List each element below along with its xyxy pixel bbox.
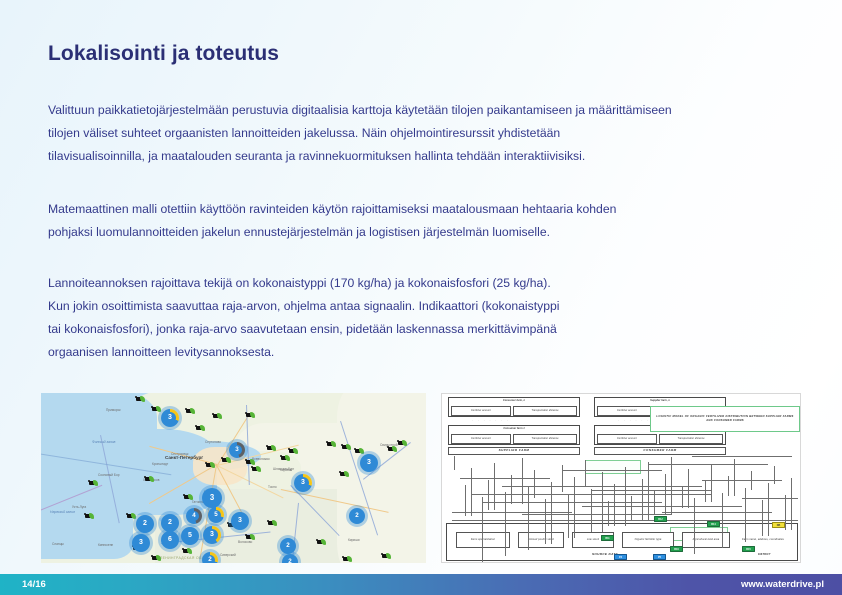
diagram-connector xyxy=(705,481,706,502)
leaf-icon xyxy=(256,466,261,472)
source-box-animal-poultry-stock: Animal/ poultry stock xyxy=(518,532,564,548)
leaf-icon xyxy=(149,476,154,482)
leaf-icon xyxy=(190,408,195,414)
map-water-label: Финский залив xyxy=(92,440,115,444)
map-cluster-marker[interactable]: 4 xyxy=(186,508,202,524)
source-box-agricultural-land-area: Agricultural land area xyxy=(682,532,730,548)
cluster-count-label: 3 xyxy=(164,412,176,424)
paragraph-3-line-1: Lannoiteannoksen rajoittava tekijä on ko… xyxy=(48,272,559,295)
map-cluster-marker[interactable]: 3 xyxy=(231,512,249,530)
diagram-connector xyxy=(562,470,662,471)
diagram-connector xyxy=(762,500,763,536)
cluster-count-label: 2 xyxy=(352,511,363,522)
farm-marker-icon[interactable] xyxy=(355,448,364,455)
diagram-connector xyxy=(785,495,786,530)
diagram-connector xyxy=(608,501,609,526)
farm-marker-icon[interactable] xyxy=(246,534,255,541)
farm-marker-icon[interactable] xyxy=(184,494,193,501)
supplier-farm-bar: SUPPLIER FARM xyxy=(448,447,580,455)
consumer-farm-1-table: Consumer farm 1 Fertilizer amount Transp… xyxy=(448,425,580,445)
group-frame-p4p5 xyxy=(585,460,641,474)
diagram-connector xyxy=(545,499,546,544)
fertilizer-amount-cell: Fertilizer amount xyxy=(451,434,511,444)
diagram-connector xyxy=(774,466,775,484)
diagram-connector xyxy=(751,471,752,490)
leaf-icon xyxy=(347,556,352,562)
paragraph-3-line-4: orgaanisen lannoitteen levitysannoksesta… xyxy=(48,341,559,364)
map-place-label: Приморск xyxy=(106,408,121,412)
farm-marker-icon[interactable] xyxy=(382,553,391,560)
diagram-node[interactable]: B14 xyxy=(707,521,720,527)
diagram-connector xyxy=(692,456,792,457)
leaf-icon xyxy=(250,412,255,418)
diagram-connector xyxy=(574,477,575,538)
farm-marker-icon[interactable] xyxy=(252,466,261,473)
farm-marker-icon[interactable] xyxy=(152,555,161,562)
map-cluster-marker[interactable]: 2 xyxy=(349,508,365,524)
diagram-canvas[interactable]: Consumer farm, n Fertilizer amount Trans… xyxy=(442,394,800,562)
map-figure[interactable]: Санкт-ПетербургПриморскСертоловоСестроре… xyxy=(41,393,426,563)
fertilizer-amount-cell: Fertilizer amount xyxy=(451,406,511,416)
leaf-icon xyxy=(272,520,277,526)
cluster-count-label: 2 xyxy=(285,557,296,563)
website-link[interactable]: www.waterdrive.pl xyxy=(741,579,824,590)
leaf-icon xyxy=(93,480,98,486)
diagram-connector xyxy=(582,506,742,507)
farm-marker-icon[interactable] xyxy=(342,444,351,451)
farm-marker-icon[interactable] xyxy=(267,445,276,452)
diagram-connector xyxy=(625,467,626,526)
diagram-connector xyxy=(654,491,655,514)
farm-marker-icon[interactable] xyxy=(186,408,195,415)
cluster-count-label: 3 xyxy=(297,477,309,489)
diagram-connector xyxy=(614,484,615,526)
farm-marker-icon[interactable] xyxy=(246,412,255,419)
leaf-icon xyxy=(188,494,193,500)
leaf-icon xyxy=(344,471,349,477)
leaf-icon xyxy=(131,513,136,519)
farm-marker-icon[interactable] xyxy=(327,441,336,448)
farm-marker-icon[interactable] xyxy=(196,425,205,432)
leaf-icon xyxy=(271,445,276,451)
diagram-connector xyxy=(460,478,550,479)
diagram-connector xyxy=(742,498,798,499)
diagram-connector xyxy=(745,488,746,542)
diagram-connector xyxy=(671,457,672,514)
farm-marker-icon[interactable] xyxy=(145,476,154,483)
fertilizer-amount-cell: Fertilizer amount xyxy=(597,406,657,416)
cluster-count-label: 6 xyxy=(164,534,176,546)
leaf-icon xyxy=(359,448,364,454)
diagram-node[interactable]: B15 xyxy=(742,546,755,552)
diagram-connector xyxy=(562,465,563,492)
map-place-label: Тосно xyxy=(268,485,277,489)
map-cluster-marker[interactable]: 3 xyxy=(161,409,179,427)
diagram-connector xyxy=(662,512,772,513)
farm-marker-icon[interactable] xyxy=(246,459,255,466)
leaf-icon xyxy=(321,539,326,545)
cluster-count-label: 3 xyxy=(232,445,243,456)
leaf-icon xyxy=(226,457,231,463)
leaf-icon xyxy=(89,513,94,519)
map-place-label: Кириши xyxy=(348,538,360,542)
farm-marker-icon[interactable] xyxy=(183,548,192,555)
leaf-icon xyxy=(331,441,336,447)
map-water-label: Нарвский залив xyxy=(50,510,75,514)
farm-marker-icon[interactable] xyxy=(268,520,277,527)
consumer-farm-n-title: Consumer farm, n xyxy=(449,399,579,402)
paragraph-3: Lannoiteannoksen rajoittava tekijä on ko… xyxy=(48,272,559,364)
farm-marker-icon[interactable] xyxy=(340,471,349,478)
paragraph-1-line-1: Valittuun paikkatietojärjestelmään perus… xyxy=(48,99,672,122)
leaf-icon xyxy=(250,459,255,465)
leaf-icon xyxy=(140,396,145,402)
cluster-count-label: 2 xyxy=(139,518,151,530)
diagram-connector xyxy=(648,462,649,520)
farm-marker-icon[interactable] xyxy=(206,462,215,469)
map-place-label: Кировск xyxy=(280,468,292,472)
map-cluster-marker[interactable]: 3 xyxy=(360,454,378,472)
cluster-count-label: 3 xyxy=(206,529,218,541)
diagram-connector xyxy=(791,478,792,530)
cluster-count-label: 5 xyxy=(184,530,196,542)
slide-root: Lokalisointi ja toteutus Valittuun paikk… xyxy=(0,0,842,595)
paragraph-3-line-3: tai kokonaisfosfori), jonka raja-arvo sa… xyxy=(48,318,559,341)
diagram-connector xyxy=(465,485,466,516)
consumer-farm-1-title: Consumer farm 1 xyxy=(449,427,579,430)
district-caption: DISTRICT xyxy=(758,553,771,556)
diagram-connector xyxy=(528,487,529,550)
cluster-count-label: 3 xyxy=(135,537,147,549)
diagram-connector xyxy=(711,464,712,502)
map-cluster-marker[interactable]: 2 xyxy=(282,554,298,563)
leaf-icon xyxy=(217,413,222,419)
map-place-label: Сосновый Бор xyxy=(98,473,120,477)
map-place-label: Сиверский xyxy=(220,553,236,557)
transportation-distance-cell: Transportation distance xyxy=(659,434,723,444)
cluster-count-label: 3 xyxy=(205,491,219,505)
page-number: 14/16 xyxy=(22,579,46,590)
farm-marker-icon[interactable] xyxy=(281,455,290,462)
map-place-label: Кингисепп xyxy=(98,543,113,547)
paragraph-1-line-2: tilojen väliset suhteet orgaanisten lann… xyxy=(48,122,672,145)
diagram-connector xyxy=(648,464,768,465)
map-place-label: Кронштадт xyxy=(152,462,168,466)
diagram-connector xyxy=(682,486,683,508)
transportation-distance-cell: Transportation distance xyxy=(513,406,577,416)
map-cluster-marker[interactable]: 2 xyxy=(136,515,154,533)
cluster-count-label: 5 xyxy=(211,510,222,521)
map-place-label: Сланцы xyxy=(52,542,64,546)
diagram-connector xyxy=(592,490,712,491)
map-cluster-marker[interactable]: 2 xyxy=(202,552,218,563)
map-place-label: Сертолово xyxy=(205,440,221,444)
farm-marker-icon[interactable] xyxy=(343,556,352,563)
diagram-connector xyxy=(591,489,592,532)
diagram-figure[interactable]: Consumer farm, n Fertilizer amount Trans… xyxy=(441,393,801,563)
paragraph-1: Valittuun paikkatietojärjestelmään perus… xyxy=(48,99,672,168)
source-box-organic-fertilizer-type: Organic fertilizer type xyxy=(622,532,674,548)
map-cluster-marker[interactable]: 6 xyxy=(161,531,179,549)
fertilizer-amount-cell: Fertilizer amount xyxy=(597,434,657,444)
map-cluster-marker[interactable]: 3 xyxy=(294,474,312,492)
diagram-connector xyxy=(551,482,552,544)
cluster-count-label: 3 xyxy=(363,457,375,469)
cluster-count-label: 2 xyxy=(283,541,294,552)
diagram-node[interactable]: P5 xyxy=(653,554,666,560)
diagram-connector xyxy=(702,480,782,481)
diagram-connector xyxy=(454,456,455,470)
diagram-node[interactable]: B12 xyxy=(654,516,667,522)
transportation-distance-cell: Transportation distance xyxy=(513,434,577,444)
leaf-icon xyxy=(386,553,391,559)
diagram-connector xyxy=(471,468,472,516)
map-cluster-marker[interactable]: 5 xyxy=(208,507,224,523)
farm-marker-icon[interactable] xyxy=(317,539,326,546)
map-place-label: Сестрорецк xyxy=(171,452,188,456)
diagram-connector xyxy=(728,476,729,496)
map-cluster-marker[interactable]: 5 xyxy=(181,527,199,545)
farm-marker-icon[interactable] xyxy=(152,406,161,413)
consumer-farm-bar: CONSUMER FARM xyxy=(594,447,726,455)
diagram-connector xyxy=(511,475,512,504)
diagram-connector xyxy=(505,492,506,556)
diagram-node[interactable]: B16 xyxy=(670,546,683,552)
map-cluster-marker[interactable]: 3 xyxy=(203,526,221,544)
logistic-model-title-box: LOGISTIC MODEL OF ORGANIC FERTILIZER DIS… xyxy=(650,406,800,432)
farm-marker-icon[interactable] xyxy=(127,513,136,520)
diagram-connector xyxy=(488,480,489,510)
map-canvas[interactable]: Санкт-ПетербургПриморскСертоловоСестроре… xyxy=(41,393,426,563)
farm-marker-icon[interactable] xyxy=(85,513,94,520)
leaf-icon xyxy=(187,548,192,554)
leaf-icon xyxy=(285,455,290,461)
diagram-connector xyxy=(482,497,483,562)
diagram-connector xyxy=(665,474,666,514)
diagram-connector xyxy=(452,512,572,513)
map-cluster-marker[interactable]: 2 xyxy=(161,514,179,532)
farm-marker-icon[interactable] xyxy=(89,480,98,487)
paragraph-2: Matemaattinen malli otettiin käyttöön ra… xyxy=(48,198,616,244)
diagram-connector xyxy=(602,472,603,532)
farm-marker-icon[interactable] xyxy=(136,396,145,403)
leaf-icon xyxy=(402,440,407,446)
diagram-connector xyxy=(631,496,632,520)
diagram-connector xyxy=(534,470,535,498)
leaf-icon xyxy=(346,444,351,450)
diagram-connector xyxy=(688,469,689,508)
farm-marker-icon[interactable] xyxy=(289,448,298,455)
farm-marker-icon[interactable] xyxy=(222,457,231,464)
cluster-count-label: 4 xyxy=(189,511,200,522)
paragraph-1-line-3: tilavisualisoinnilla, ja maatalouden seu… xyxy=(48,145,672,168)
diagram-connector xyxy=(768,483,769,536)
diagram-connector xyxy=(585,460,586,486)
leaf-icon xyxy=(250,534,255,540)
diagram-node[interactable]: DB xyxy=(772,522,785,528)
footer-bar: 14/16 www.waterdrive.pl xyxy=(0,574,842,595)
map-cluster-marker[interactable]: 3 xyxy=(202,488,222,508)
diagram-connector xyxy=(734,459,735,496)
map-cluster-marker[interactable]: 3 xyxy=(132,534,150,552)
farm-marker-icon[interactable] xyxy=(213,413,222,420)
diagram-connector xyxy=(494,463,495,510)
diagram-connector xyxy=(522,458,523,504)
cluster-count-label: 2 xyxy=(205,555,216,563)
diagram-connector xyxy=(482,502,662,503)
leaf-icon xyxy=(392,446,397,452)
source-box-farm-specialization: Farm specialization xyxy=(456,532,510,548)
cluster-count-label: 3 xyxy=(234,515,246,527)
diagram-connector xyxy=(694,498,695,554)
cluster-count-label: 2 xyxy=(164,517,176,529)
map-cluster-marker[interactable]: 2 xyxy=(280,538,296,554)
leaf-icon xyxy=(156,555,161,561)
leaf-icon xyxy=(210,462,215,468)
paragraph-2-line-1: Matemaattinen malli otettiin käyttöön ra… xyxy=(48,198,616,221)
diagram-connector xyxy=(642,479,643,520)
farm-marker-icon[interactable] xyxy=(398,440,407,447)
diagram-connector xyxy=(722,493,723,548)
map-cluster-marker[interactable]: 3 xyxy=(229,442,245,458)
consumer-farm-n-table: Consumer farm, n Fertilizer amount Trans… xyxy=(448,397,580,417)
supplier-farm-n-title: Supplier farm, n xyxy=(595,399,725,402)
diagram-node[interactable]: B11 xyxy=(601,535,614,541)
diagram-connector xyxy=(472,494,712,495)
diagram-connector xyxy=(568,494,569,538)
page-title: Lokalisointi ja toteutus xyxy=(48,42,279,66)
paragraph-3-line-2: Kun jokin osoittimista saavuttaa raja-ar… xyxy=(48,295,559,318)
leaf-icon xyxy=(156,406,161,412)
paragraph-2-line-2: pohjaksi luomulannoitteiden jakelun ennu… xyxy=(48,221,616,244)
map-place-label: Усть-Луга xyxy=(72,505,86,509)
farm-marker-icon[interactable] xyxy=(388,446,397,453)
diagram-node[interactable]: P4 xyxy=(614,554,627,560)
leaf-icon xyxy=(293,448,298,454)
leaf-icon xyxy=(200,425,205,431)
vertical-ellipsis: · · · · · · · xyxy=(472,418,510,422)
